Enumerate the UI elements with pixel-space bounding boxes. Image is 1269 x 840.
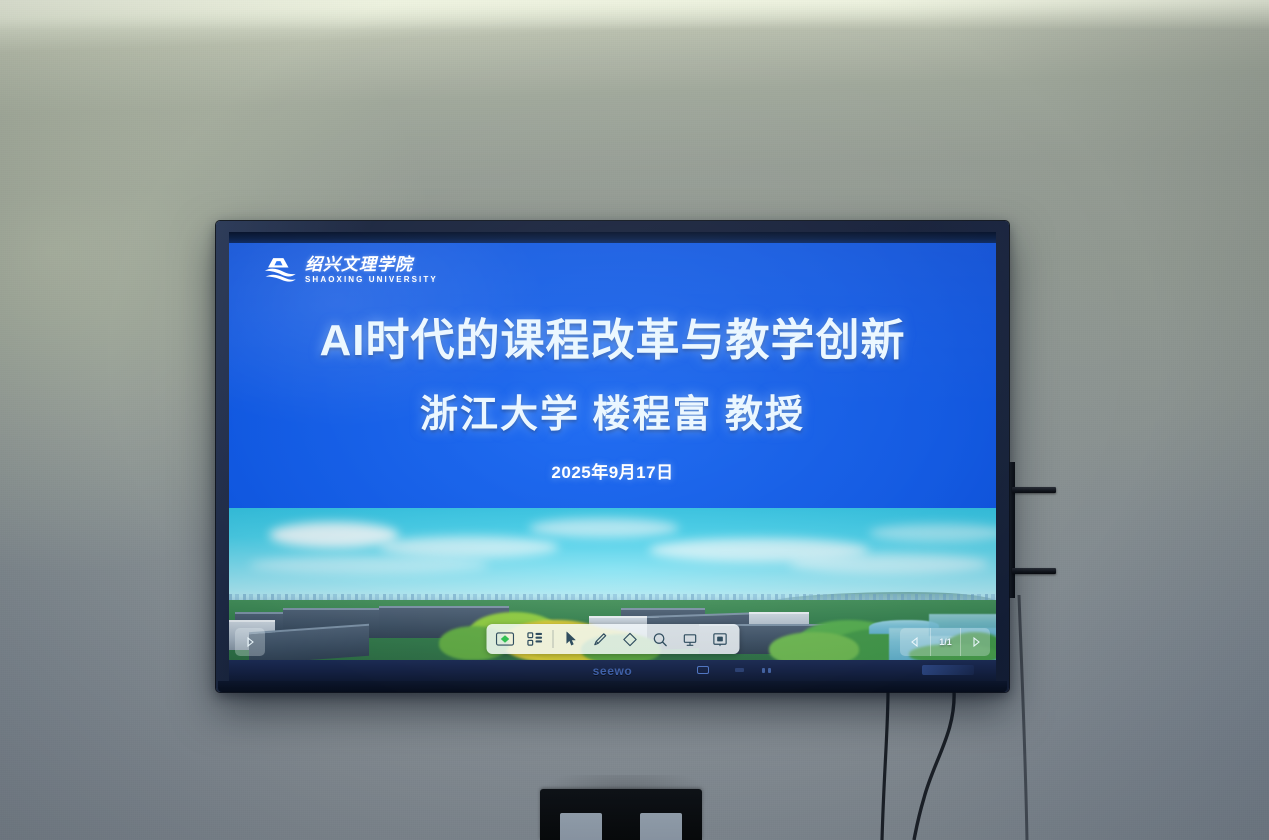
- scene-vignette: [0, 0, 1269, 840]
- room-scene: 绍兴文理学院 SHAOXING UNIVERSITY AI时代的课程改革与教学创…: [0, 0, 1269, 840]
